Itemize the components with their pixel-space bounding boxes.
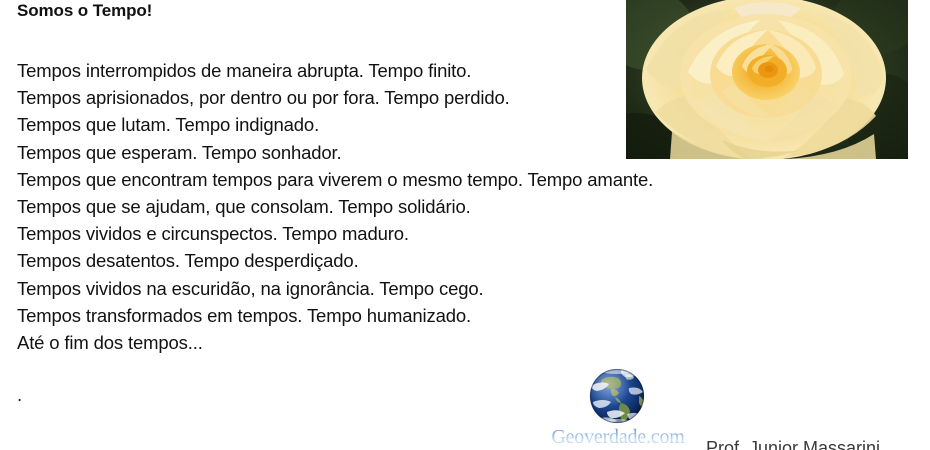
poem-line: Tempos que encontram tempos para viverem… <box>17 166 817 193</box>
poem-line: Até o fim dos tempos... <box>17 329 817 356</box>
earth-globe-icon <box>587 366 647 426</box>
poem-line: Tempos que se ajudam, que consolam. Temp… <box>17 193 817 220</box>
poem-line: Tempos vividos e circunspectos. Tempo ma… <box>17 220 817 247</box>
rose-photo <box>626 0 908 159</box>
poem-line: Tempos vividos na escuridão, na ignorânc… <box>17 275 817 302</box>
poem-line: Tempos desatentos. Tempo desperdiçado. <box>17 247 817 274</box>
rose-image <box>626 0 908 159</box>
globe-graphic <box>587 366 647 426</box>
page-title: Somos o Tempo! <box>17 1 152 21</box>
slide-canvas: Somos o Tempo! Tempos interrompidos de m… <box>0 0 930 450</box>
geoverdade-logo[interactable]: Geoverdade.com <box>533 364 703 450</box>
trailing-period: . <box>17 381 22 408</box>
poem-line: Tempos transformados em tempos. Tempo hu… <box>17 302 817 329</box>
geoverdade-wordmark: Geoverdade.com <box>533 426 703 449</box>
byline: Prof. Junior Massarini <box>706 437 880 450</box>
